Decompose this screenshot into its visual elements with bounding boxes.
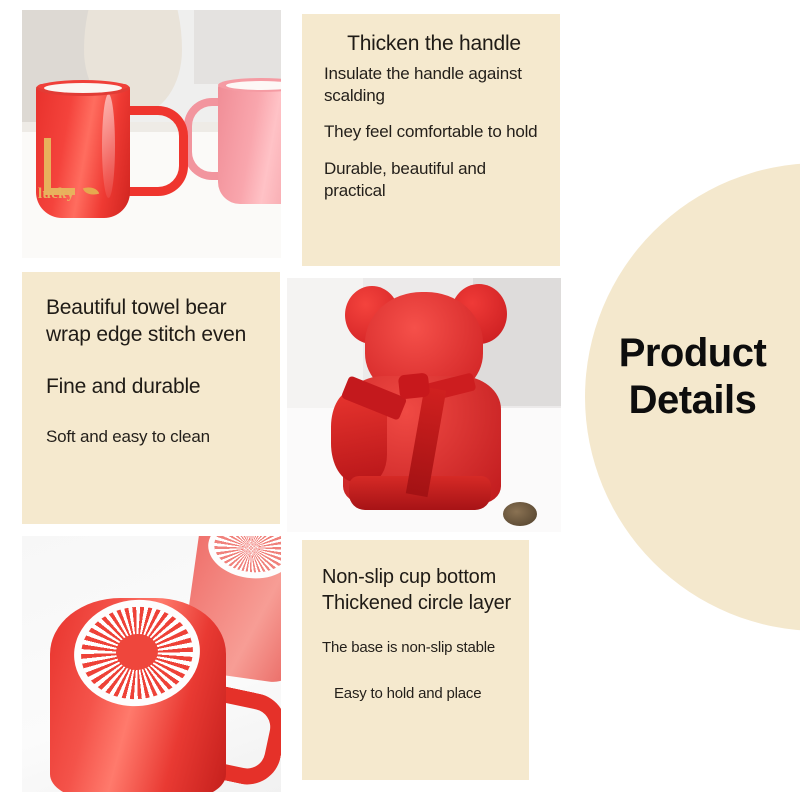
product-details-title-line-1: Product [619,331,767,375]
non-slip-headline: Non-slip cup bottom Thickened circle lay… [322,564,517,616]
product-details-infographic: lucky Thicken the handle Insulate the ha… [0,0,800,800]
text-panel-thicken-handle: Thicken the handle Insulate the handle a… [302,14,560,266]
beautiful-towel-headline: Beautiful towel bear wrap edge stitch ev… [46,294,266,349]
bear-ribbon-knot [398,372,430,399]
text-panel-beautiful-towel: Beautiful towel bear wrap edge stitch ev… [22,272,280,524]
pink-mug-body [218,82,281,204]
product-details-title-line-2: Details [585,377,800,424]
photo-two-mugs: lucky [22,10,281,258]
thicken-handle-line-2: They feel comfortable to hold [324,121,544,143]
red-mug-interior [44,83,122,93]
pinecone-prop [503,502,537,526]
thicken-handle-line-1: Insulate the handle against scalding [324,63,544,107]
beautiful-towel-subline: Soft and easy to clean [46,426,266,448]
thicken-handle-line-3: Durable, beautiful and practical [324,158,544,202]
non-slip-line-2: Easy to hold and place [322,684,517,704]
mug-logo-lucky-text: lucky [38,186,75,203]
text-panel-non-slip-base: Non-slip cup bottom Thickened circle lay… [302,540,529,780]
product-details-title: Product Details [585,330,800,424]
thicken-handle-headline: Thicken the handle [324,30,544,57]
beautiful-towel-emphasis: Fine and durable [46,373,266,400]
non-slip-line-1: The base is non-slip stable [322,638,517,658]
photo-mug-nonslip-base [22,536,281,792]
photo-bear-towel [287,278,561,532]
red-mug-highlight [102,94,115,198]
photo-background-wall-right [194,10,281,84]
